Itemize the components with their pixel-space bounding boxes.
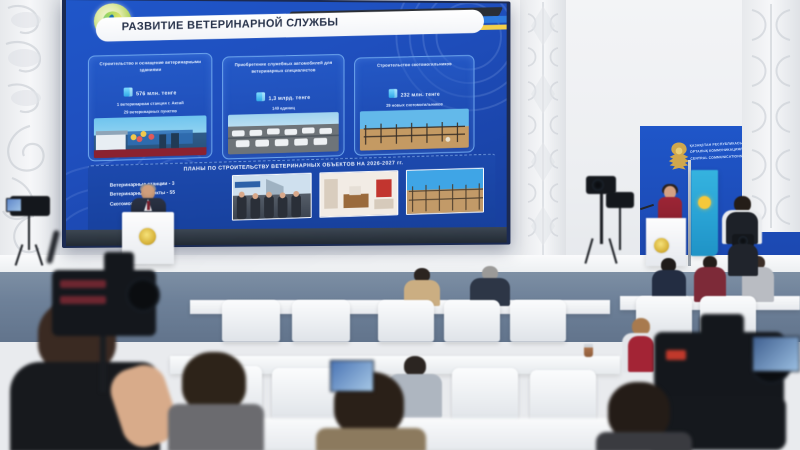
chair[interactable]	[452, 368, 518, 422]
slide-card-construction: Строительство и оснащение ветеринарными …	[88, 53, 212, 162]
camera-rec-light	[666, 350, 686, 360]
car-icon	[257, 92, 266, 101]
tripod-leg	[35, 244, 44, 266]
tripod-column	[28, 216, 30, 250]
tripod-column	[619, 208, 621, 250]
camera-mount	[100, 336, 106, 392]
chair[interactable]	[530, 370, 596, 424]
card-kpi-value: 1,3 млрд. тенге	[223, 90, 343, 103]
camera-label-strip	[60, 296, 106, 304]
phone-screen[interactable]	[330, 360, 374, 392]
podium-emblem-left	[139, 228, 156, 245]
foreground-person-right	[596, 382, 692, 450]
card-heading: Строительство и оснащение ветеринарными …	[95, 59, 206, 75]
card-kpi-value: 232 млн. тенге	[355, 87, 473, 100]
national-ornament-relief-panel-center	[520, 0, 566, 262]
slide-card-burial-grounds: Строительство скотомогильников 232 млн. …	[354, 55, 474, 156]
camera-flip-screen[interactable]	[752, 336, 800, 372]
camera-label-strip	[60, 280, 106, 288]
card-photo-vehicle-fleet	[228, 112, 339, 154]
card-photo-veterinary-station	[94, 115, 207, 158]
speaker-tie	[147, 201, 150, 210]
banner-photo-field-fence	[406, 168, 484, 215]
kazakhstan-flag	[691, 170, 718, 256]
person-torso	[596, 432, 692, 450]
audience-person-beige	[404, 268, 440, 304]
flag-sun-icon	[698, 196, 711, 209]
banner-photo-row	[232, 168, 484, 223]
photographer-legs	[728, 244, 758, 276]
camera-handle	[700, 314, 744, 338]
chart-icon	[389, 89, 398, 98]
camera-top-handle	[104, 252, 134, 278]
tripod-leg	[584, 238, 593, 264]
chair[interactable]	[510, 300, 566, 342]
chair[interactable]	[292, 300, 350, 342]
person-head	[182, 352, 246, 412]
studio-camera-right	[602, 192, 642, 266]
foreground-person-left	[168, 352, 264, 450]
slide-card-vehicles: Приобретение служебных автомобилей для в…	[222, 54, 344, 160]
coffee-cup[interactable]	[584, 344, 593, 357]
press-briefing-screenshot: ҚАЗАҚСТАН РЕСПУБЛИКАСЫ ПРЕЗИДЕНТІНІҢ ЖАН…	[0, 0, 800, 450]
chair[interactable]	[378, 300, 434, 342]
banner-photo-office	[319, 170, 398, 218]
camera-monitor	[6, 198, 22, 212]
chair[interactable]	[222, 300, 280, 342]
camera-lens	[592, 179, 604, 191]
chair[interactable]	[444, 300, 500, 342]
banner-photo-ceremony	[232, 173, 312, 221]
card-heading: Приобретение служебных автомобилей для в…	[229, 60, 338, 76]
camera-body	[606, 192, 634, 208]
person-torso	[316, 428, 426, 450]
card-heading: Строительство скотомогильников	[361, 61, 468, 70]
card-photo-burial-ground	[360, 109, 469, 151]
foreground-video-camera	[48, 252, 188, 392]
standing-photographer	[716, 196, 768, 276]
person-torso	[168, 404, 264, 450]
building-icon	[124, 87, 133, 96]
camera-lens	[126, 278, 160, 312]
slide-card-row: Строительство и оснащение ветеринарными …	[88, 47, 495, 168]
tripod-leg	[15, 244, 24, 266]
card-kpi-value: 576 млн. тенге	[89, 86, 211, 99]
podium-emblem-right	[654, 238, 669, 253]
